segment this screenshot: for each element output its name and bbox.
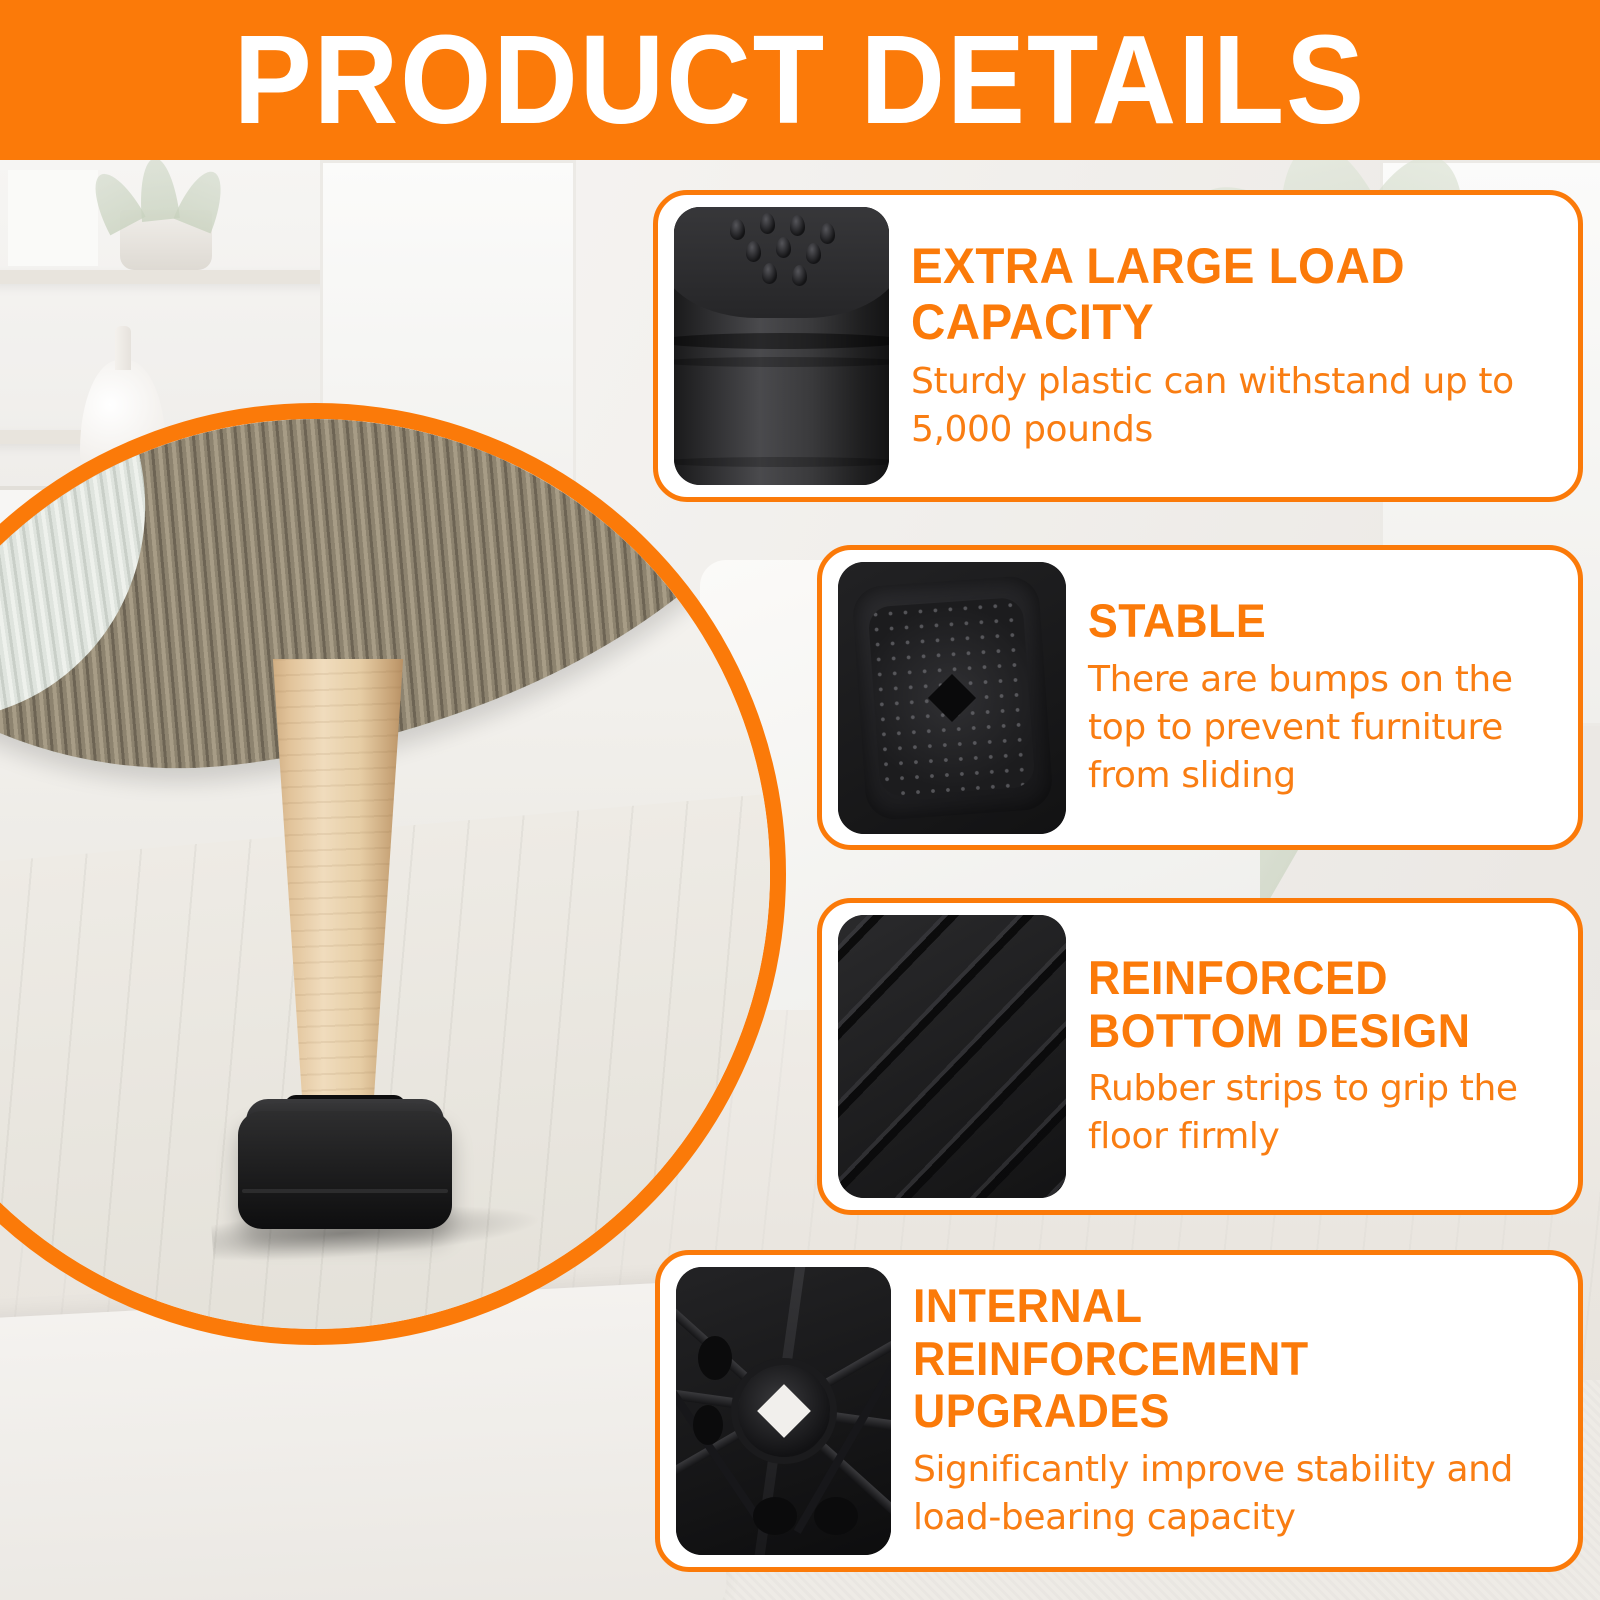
anti-slip-bump [790, 215, 805, 236]
riser-groove [674, 457, 889, 467]
hero-circle-photo [0, 403, 786, 1345]
card-text-block: REINFORCED BOTTOM DESIGN Rubber strips t… [1088, 952, 1562, 1161]
feature-card-internal-reinforcement: INTERNAL REINFORCEMENT UPGRADES Signific… [655, 1250, 1583, 1572]
anti-slip-bump [760, 213, 775, 234]
card-title: EXTRA LARGE LOAD CAPACITY [911, 238, 1520, 350]
riser-groove [674, 357, 889, 367]
hero-riser-seam [242, 1189, 448, 1193]
internal-post [814, 1497, 858, 1535]
anti-slip-bump [776, 237, 791, 258]
card-body: There are bumps on the top to prevent fu… [1088, 656, 1552, 800]
riser-groove [674, 333, 889, 349]
shelf-item-book [8, 170, 98, 266]
riser-top-surface [674, 207, 889, 318]
card-body: Sturdy plastic can withstand up to 5,000… [911, 358, 1552, 454]
feature-card-load-capacity: EXTRA LARGE LOAD CAPACITY Sturdy plastic… [653, 190, 1583, 502]
card-text-block: EXTRA LARGE LOAD CAPACITY Sturdy plastic… [911, 238, 1562, 454]
card-text-block: STABLE There are bumps on the top to pre… [1088, 595, 1562, 799]
anti-slip-bump [806, 243, 821, 264]
header-banner: PRODUCT DETAILS [0, 0, 1600, 160]
rubber-strips-closeup-image [838, 915, 1066, 1198]
hero-photo-content [0, 419, 770, 1329]
feature-card-stable: STABLE There are bumps on the top to pre… [817, 545, 1583, 850]
riser-side-view-with-bumps-image [674, 207, 889, 485]
card-body: Rubber strips to grip the floor firmly [1088, 1065, 1552, 1161]
anti-slip-bump [746, 241, 761, 262]
anti-slip-bump [792, 265, 807, 286]
card-title: STABLE [1088, 595, 1529, 648]
hero-riser-body [238, 1111, 452, 1229]
internal-rib-structure-image [676, 1267, 891, 1555]
page-title: PRODUCT DETAILS [234, 17, 1366, 143]
card-title: REINFORCED BOTTOM DESIGN [1088, 952, 1529, 1057]
card-title: INTERNAL REINFORCEMENT UPGRADES [913, 1280, 1520, 1438]
internal-post [698, 1336, 732, 1380]
rubber-strip-pattern [838, 915, 1066, 1198]
anti-slip-bump [820, 223, 835, 244]
product-details-infographic: PRODUCT DETAILS [0, 0, 1600, 1600]
feature-card-reinforced-bottom: REINFORCED BOTTOM DESIGN Rubber strips t… [817, 898, 1583, 1215]
anti-slip-bump [762, 263, 777, 284]
riser-top-view-bumps-image [838, 562, 1066, 834]
card-text-block: INTERNAL REINFORCEMENT UPGRADES Signific… [913, 1280, 1562, 1542]
card-body: Significantly improve stability and load… [913, 1446, 1552, 1542]
anti-slip-bump [730, 219, 745, 240]
